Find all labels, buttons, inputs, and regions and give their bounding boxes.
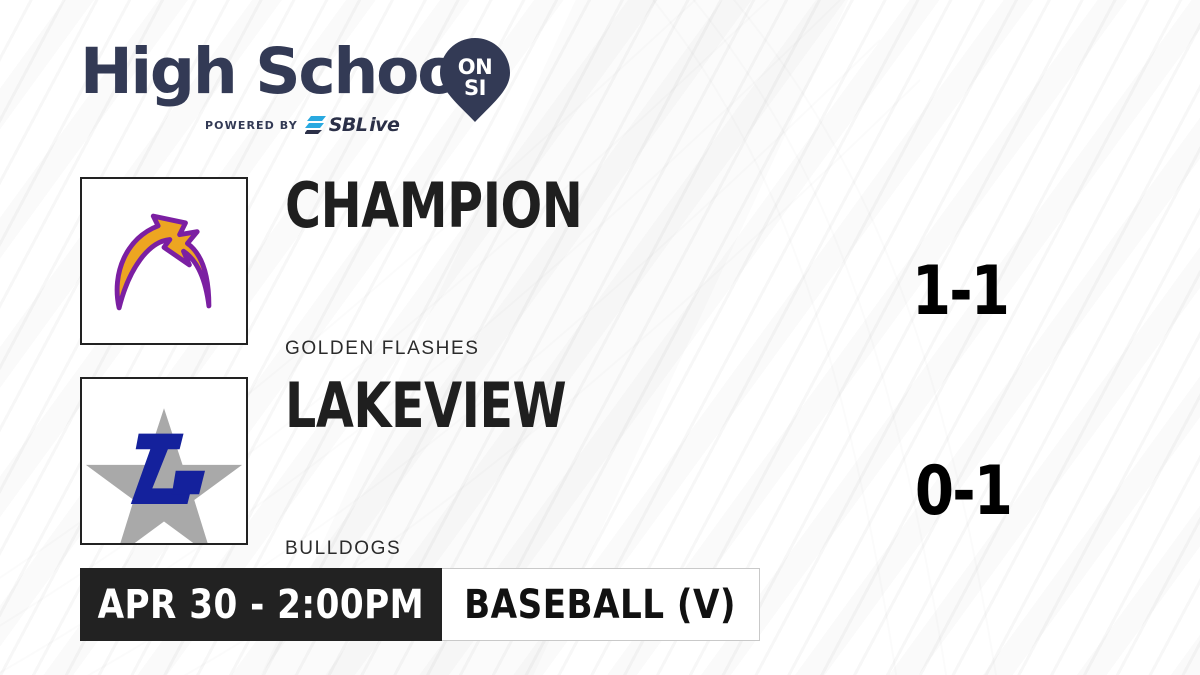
team-logo-lakeview — [80, 377, 248, 545]
team-mascot-lakeview: BULLDOGS — [285, 538, 401, 560]
event-sport: BASEBALL (V) — [442, 568, 760, 641]
team-logo-champion — [80, 177, 248, 345]
sblive-logo: SBLive — [305, 114, 399, 136]
team-name-champion: CHAMPION — [285, 175, 582, 237]
sblive-wordmark-light: ive — [369, 114, 399, 136]
matchup-graphic: High School ON SI POWERED BY SBLive — [0, 0, 1200, 675]
brand-wordmark: High School — [80, 36, 478, 108]
powered-by-label: POWERED BY — [205, 119, 298, 132]
event-info-bar: APR 30 - 2:00PM BASEBALL (V) — [80, 568, 760, 641]
powered-by-lockup: POWERED BY SBLive — [205, 114, 399, 136]
team-name-lakeview: LAKEVIEW — [285, 375, 566, 437]
sblive-wordmark-bold: SBL — [329, 114, 367, 136]
svg-text:SI: SI — [464, 76, 486, 100]
brand-header: High School ON SI POWERED BY SBLive — [80, 36, 510, 136]
team-mascot-champion: GOLDEN FLASHES — [285, 338, 480, 360]
event-sport-text: BASEBALL (V) — [465, 582, 737, 628]
sblive-slash-icon — [305, 115, 327, 135]
event-datetime-text: APR 30 - 2:00PM — [98, 582, 425, 628]
team-record-champion: 1-1 — [868, 258, 1052, 326]
on-si-pin-icon: ON SI — [440, 38, 510, 122]
team-record-lakeview: 0-1 — [871, 458, 1055, 526]
event-datetime: APR 30 - 2:00PM — [80, 568, 442, 641]
